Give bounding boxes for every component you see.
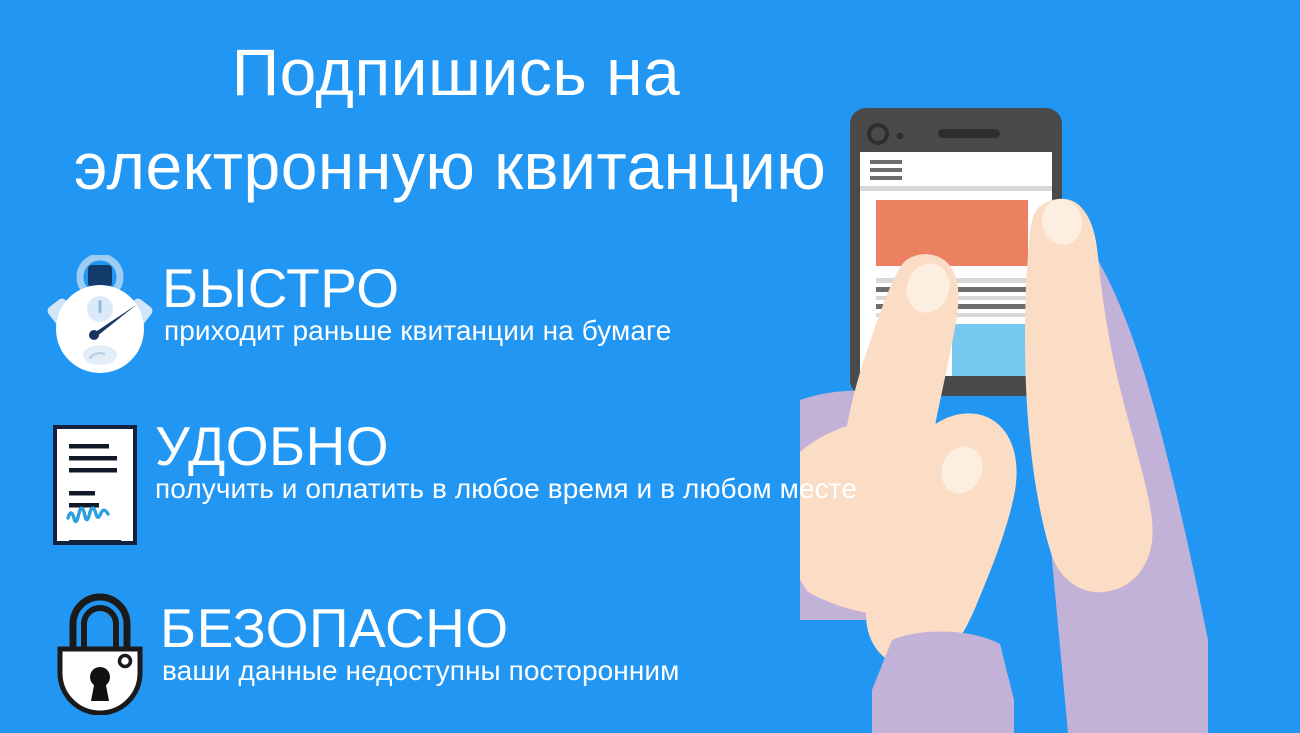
page-title: Подпишись на электронную квитанцию xyxy=(0,26,900,213)
feature-subtitle: приходит раньше квитанции на бумаге xyxy=(164,314,671,348)
feature-text-block: УДОБНО получить и оплатить в любое время… xyxy=(155,417,857,506)
feature-item: БЫСТРО приходит раньше квитанции на бума… xyxy=(0,245,1010,415)
headline-line-1: Подпишись на xyxy=(0,26,900,120)
stopwatch-icon xyxy=(44,255,156,375)
headline-line-2: электронную квитанцию xyxy=(0,120,900,214)
feature-text-block: БЫСТРО приходит раньше квитанции на бума… xyxy=(162,259,671,348)
feature-subtitle: получить и оплатить в любое время и в лю… xyxy=(155,472,857,506)
padlock-icon xyxy=(46,587,154,715)
feature-list: БЫСТРО приходит раньше квитанции на бума… xyxy=(0,245,1010,733)
feature-text-block: БЕЗОПАСНО ваши данные недоступны посторо… xyxy=(160,599,680,688)
document-signed-icon xyxy=(48,423,148,548)
feature-title: УДОБНО xyxy=(155,417,857,476)
feature-item: БЕЗОПАСНО ваши данные недоступны посторо… xyxy=(0,585,1010,733)
poster-canvas: Подпишись на электронную квитанцию xyxy=(0,0,1300,733)
feature-item: УДОБНО получить и оплатить в любое время… xyxy=(0,415,1010,585)
feature-title: БЕЗОПАСНО xyxy=(160,599,680,658)
feature-subtitle: ваши данные недоступны посторонним xyxy=(162,654,680,688)
feature-title: БЫСТРО xyxy=(162,259,671,318)
